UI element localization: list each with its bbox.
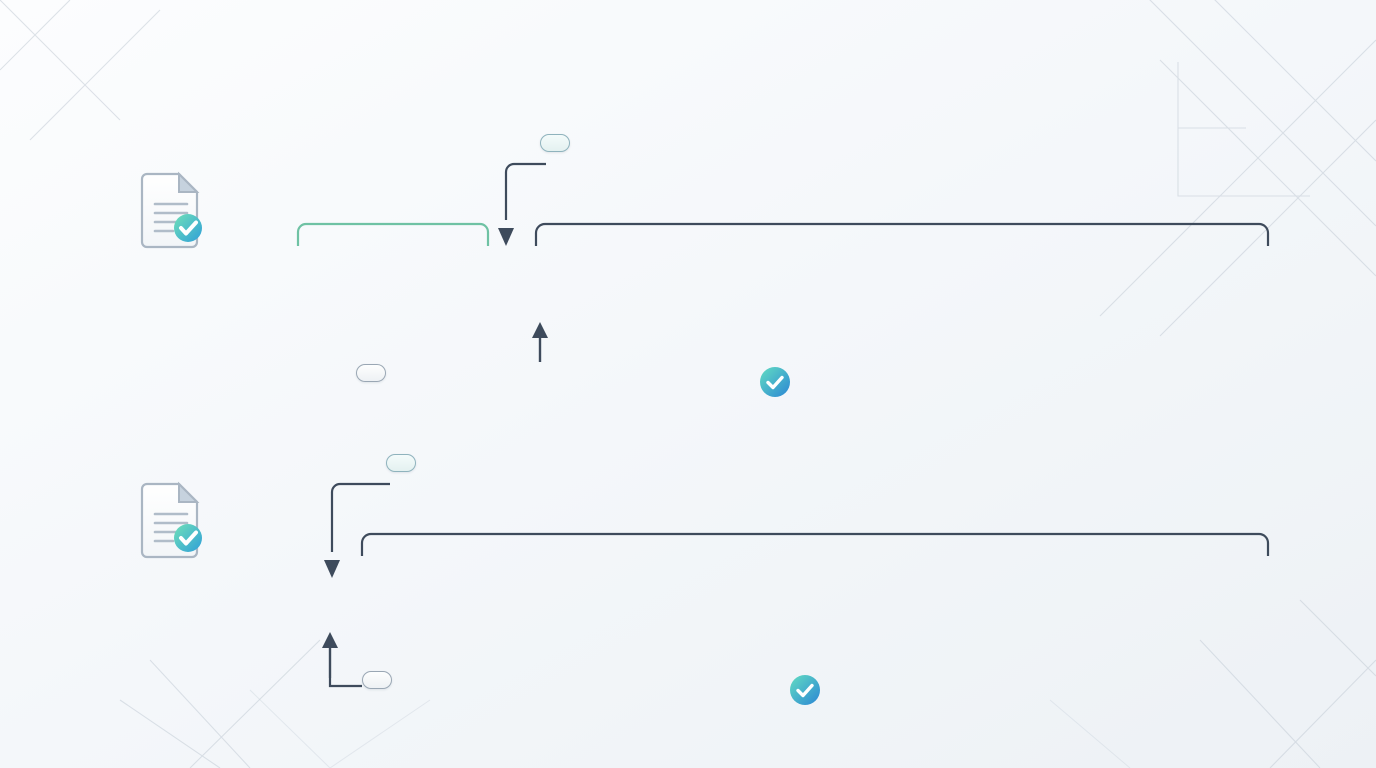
connector-bottom-callout-2 xyxy=(324,676,364,700)
arrow-up-text-offset xyxy=(528,322,552,362)
check-circle-icon xyxy=(790,675,820,705)
callout-head-interpreted[interactable] xyxy=(362,671,392,689)
callout-data-start-bom[interactable] xyxy=(540,134,570,152)
byte-strip-with-bom xyxy=(296,250,1276,346)
document-check-icon xyxy=(139,480,205,560)
bracket-actual-data-1 xyxy=(534,222,1270,248)
status-without-bom xyxy=(790,675,831,705)
connector-bottom-callout-1 xyxy=(400,360,540,364)
byte-strip-without-bom xyxy=(296,560,1276,656)
callout-text-offset[interactable] xyxy=(356,364,386,382)
document-check-icon xyxy=(139,170,205,250)
status-with-bom xyxy=(760,367,801,397)
callout-data-start-immediate[interactable] xyxy=(386,454,416,472)
check-circle-icon xyxy=(760,367,790,397)
connector-callout-to-first-byte xyxy=(486,158,550,250)
row-label-without-bom xyxy=(52,480,292,570)
bracket-actual-data-2 xyxy=(360,532,1270,558)
row-label-with-bom xyxy=(52,170,292,260)
bracket-bom-bytes xyxy=(296,222,490,248)
arrow-up-head-interpreted xyxy=(318,632,342,678)
